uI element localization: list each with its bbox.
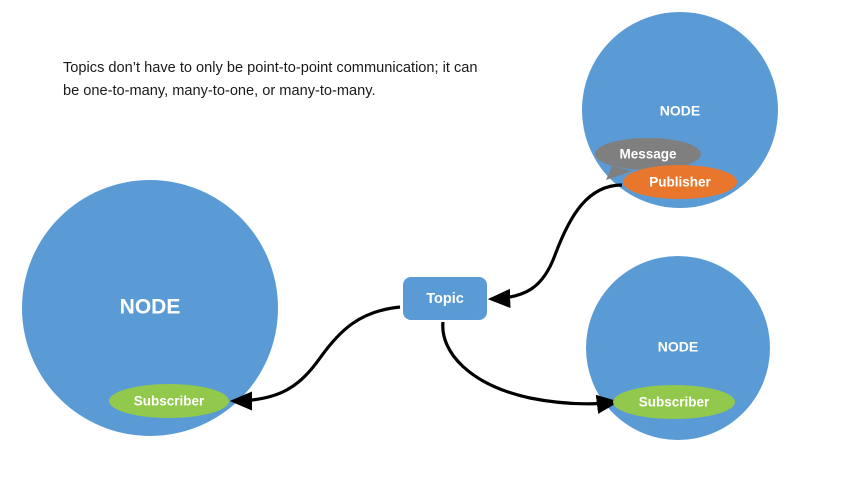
node-left-label: NODE: [120, 296, 181, 319]
node-bottom-right-label: NODE: [658, 339, 698, 355]
subscriber-bottom-right-label: Subscriber: [639, 395, 710, 410]
publisher-pill[interactable]: Publisher: [623, 165, 737, 199]
topic-box[interactable]: Topic: [403, 277, 487, 320]
subscriber-pill-left[interactable]: Subscriber: [109, 384, 229, 418]
subscriber-pill-bottom-right[interactable]: Subscriber: [613, 385, 735, 419]
message-label: Message: [619, 147, 677, 162]
publisher-label: Publisher: [649, 175, 711, 190]
topic-label: Topic: [426, 291, 464, 307]
arrow-publisher-to-topic: [491, 185, 622, 299]
diagram-canvas: Topics don’t have to only be point-to-po…: [0, 0, 854, 480]
node-top-right-label: NODE: [660, 103, 700, 119]
subscriber-left-label: Subscriber: [134, 394, 205, 409]
diagram-svg: NODE NODE NODE Message Publisher Su: [0, 0, 854, 480]
